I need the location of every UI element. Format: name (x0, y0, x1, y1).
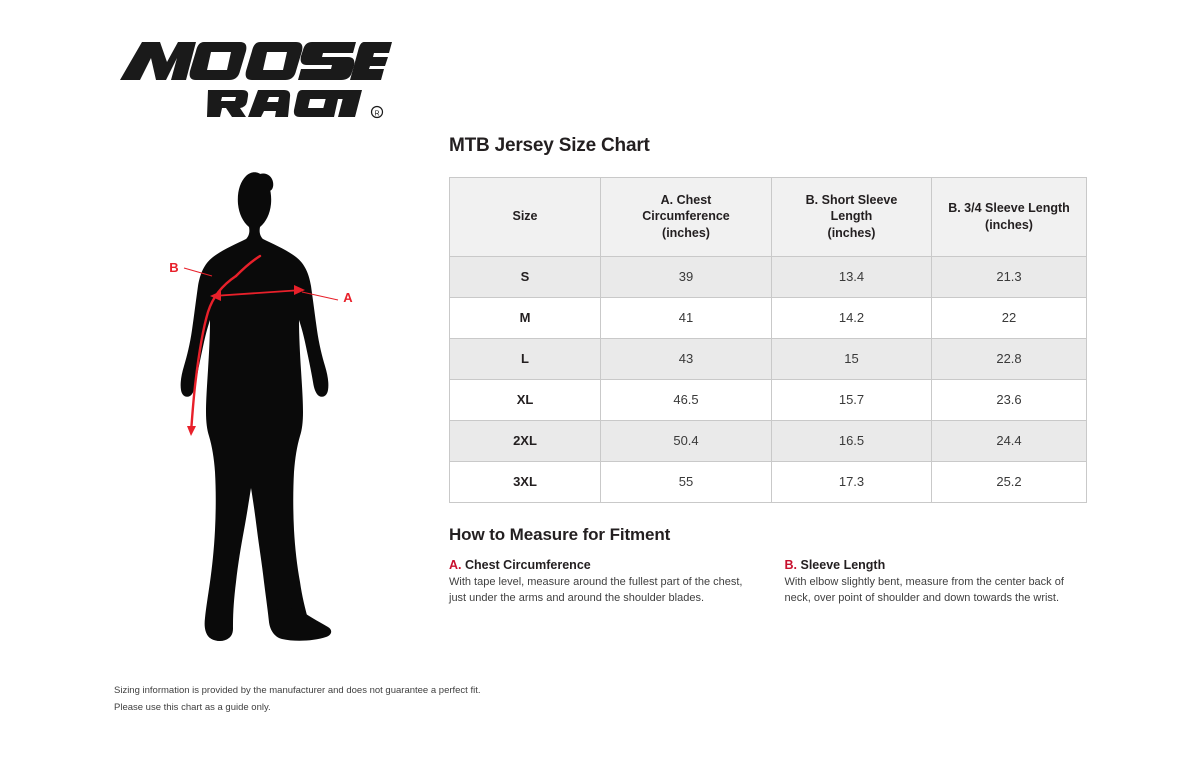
cell-short-sleeve: 17.3 (772, 461, 932, 502)
header-line: Size (512, 209, 537, 223)
cell-size: 3XL (450, 461, 601, 502)
cell-chest: 41 (601, 297, 772, 338)
table-row: M 41 14.2 22 (450, 297, 1087, 338)
table-row: XL 46.5 15.7 23.6 (450, 379, 1087, 420)
header-line: B. Short Sleeve (806, 193, 898, 207)
cell-size: 2XL (450, 420, 601, 461)
cell-chest: 46.5 (601, 379, 772, 420)
cell-three-quarter-sleeve: 25.2 (932, 461, 1087, 502)
disclaimer-line: Sizing information is provided by the ma… (114, 683, 634, 700)
table-header-row: Size A. Chest Circumference (inches) B. … (450, 177, 1087, 256)
description-line: With tape level, measure around the full… (449, 575, 751, 591)
marker-a-label: A (343, 290, 353, 305)
right-foot (269, 608, 331, 641)
header-line: B. 3/4 Sleeve Length (948, 201, 1070, 215)
cell-three-quarter-sleeve: 23.6 (932, 379, 1087, 420)
table-row: 3XL 55 17.3 25.2 (450, 461, 1087, 502)
measure-item-description: With tape level, measure around the full… (449, 575, 751, 607)
description-line: neck, over point of shoulder and down to… (785, 591, 1087, 607)
column-header-chest-circumference: A. Chest Circumference (inches) (601, 177, 772, 256)
description-line: just under the arms and around the shoul… (449, 591, 751, 607)
cell-size: L (450, 338, 601, 379)
table-row: L 43 15 22.8 (450, 338, 1087, 379)
measure-letter-b: B. (785, 558, 798, 572)
cell-short-sleeve: 15.7 (772, 379, 932, 420)
measure-name: Chest Circumference (465, 558, 591, 572)
measure-item-chest-circumference: A. Chest Circumference With tape level, … (449, 557, 751, 607)
disclaimer-line: Please use this chart as a guide only. (114, 700, 634, 717)
cell-three-quarter-sleeve: 24.4 (932, 420, 1087, 461)
table-row: 2XL 50.4 16.5 24.4 (450, 420, 1087, 461)
cell-size: XL (450, 379, 601, 420)
header-line: Length (831, 209, 873, 223)
column-header-size: Size (450, 177, 601, 256)
header-line: (inches) (662, 226, 710, 240)
sizing-disclaimer: Sizing information is provided by the ma… (114, 683, 634, 716)
column-header-three-quarter-sleeve-length: B. 3/4 Sleeve Length (inches) (932, 177, 1087, 256)
marker-b-arrowhead (187, 426, 196, 436)
moose-racing-logo: R (112, 32, 392, 120)
cell-three-quarter-sleeve: 22.8 (932, 338, 1087, 379)
cell-short-sleeve: 15 (772, 338, 932, 379)
cell-chest: 43 (601, 338, 772, 379)
cell-short-sleeve: 16.5 (772, 420, 932, 461)
cell-short-sleeve: 14.2 (772, 297, 932, 338)
cell-size: M (450, 297, 601, 338)
svg-text:R: R (374, 111, 379, 118)
table-row: S 39 13.4 21.3 (450, 256, 1087, 297)
header-line: (inches) (828, 226, 876, 240)
measurement-figure: B A (150, 160, 410, 660)
measure-item-description: With elbow slightly bent, measure from t… (785, 575, 1087, 607)
measure-letter-a: A. (449, 558, 462, 572)
cell-chest: 50.4 (601, 420, 772, 461)
logo-racing-wordmark (207, 90, 362, 117)
measure-item-heading: A. Chest Circumference (449, 557, 751, 573)
header-line: (inches) (985, 218, 1033, 232)
cell-chest: 39 (601, 256, 772, 297)
size-chart-table: Size A. Chest Circumference (inches) B. … (449, 177, 1087, 503)
cell-chest: 55 (601, 461, 772, 502)
how-to-measure-title: How to Measure for Fitment (449, 525, 1086, 545)
column-header-short-sleeve-length: B. Short Sleeve Length (inches) (772, 177, 932, 256)
marker-b-label: B (169, 260, 178, 275)
measure-item-sleeve-length: B. Sleeve Length With elbow slightly ben… (785, 557, 1087, 607)
page-title: MTB Jersey Size Chart (449, 136, 1086, 157)
measure-name: Sleeve Length (800, 558, 885, 572)
how-to-measure-grid: A. Chest Circumference With tape level, … (449, 557, 1086, 607)
header-line: Circumference (642, 209, 730, 223)
header-line: A. Chest (661, 193, 712, 207)
logo-moose-wordmark (120, 42, 392, 80)
cell-size: S (450, 256, 601, 297)
cell-short-sleeve: 13.4 (772, 256, 932, 297)
description-line: With elbow slightly bent, measure from t… (785, 575, 1087, 591)
measure-item-heading: B. Sleeve Length (785, 557, 1087, 573)
cell-three-quarter-sleeve: 21.3 (932, 256, 1087, 297)
cell-three-quarter-sleeve: 22 (932, 297, 1087, 338)
logo-trademark-icon: R (372, 107, 383, 118)
male-body-silhouette (181, 172, 329, 640)
